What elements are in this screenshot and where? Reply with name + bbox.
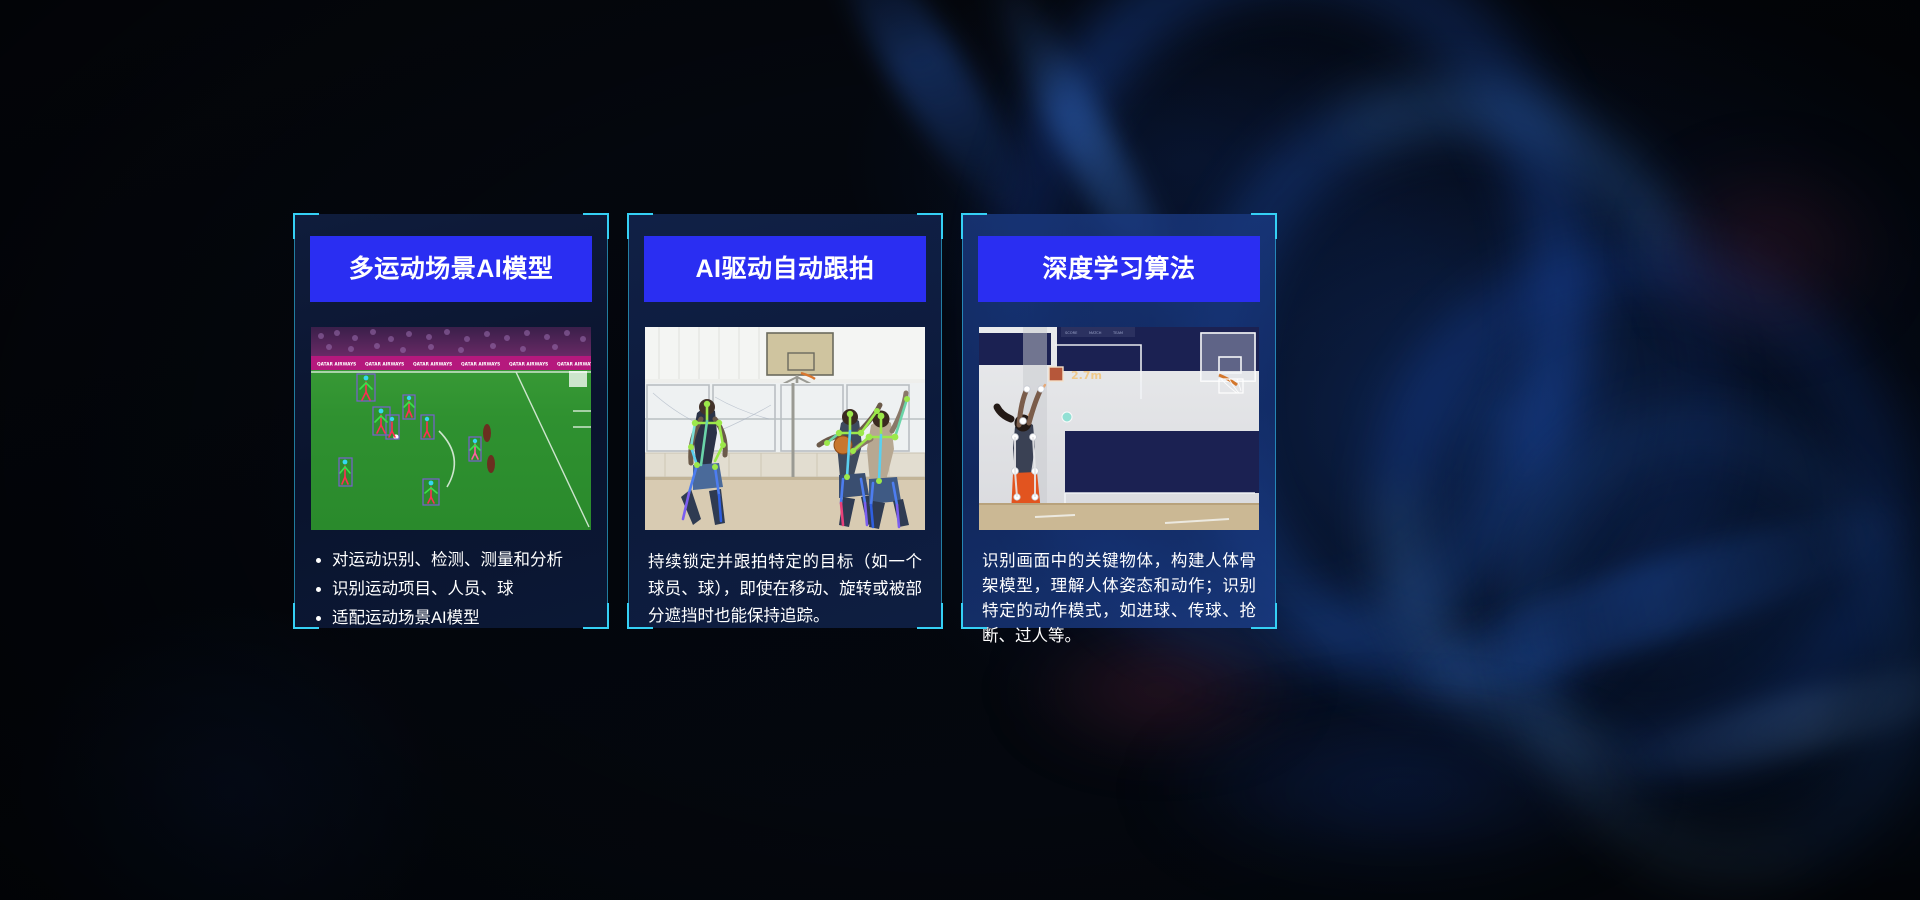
svg-text:QATAR AIRWAYS: QATAR AIRWAYS (365, 362, 404, 368)
svg-text:QATAR AIRWAYS: QATAR AIRWAYS (413, 362, 452, 368)
card-header-banner: 多运动场景AI模型 (310, 236, 592, 302)
list-item: 对运动识别、检测、测量和分析 (312, 549, 590, 572)
card-side-rail-right (607, 236, 608, 606)
soccer-field-detection-thumbnail: QATAR AIRWAYS QATAR AIRWAYS QATAR AIRWAY… (311, 327, 591, 530)
feature-card-ai-auto-tracking[interactable]: AI驱动自动跟拍 (628, 214, 942, 628)
card-title: 多运动场景AI模型 (349, 257, 554, 282)
card-description: 识别画面中的关键物体，构建人体骨架模型，理解人体姿态和动作；识别特定的动作模式，… (980, 549, 1258, 649)
svg-text:QATAR AIRWAYS: QATAR AIRWAYS (557, 362, 591, 368)
feature-card-multi-sport-ai-model[interactable]: 多运动场景AI模型 (294, 214, 608, 628)
list-item: 识别运动项目、人员、球 (312, 578, 590, 601)
svg-text:QATAR AIRWAYS: QATAR AIRWAYS (461, 362, 500, 368)
card-description: 持续锁定并跟拍特定的目标（如一个球员、球），即使在移动、旋转或被部分遮挡时也能保… (646, 549, 924, 630)
feature-card-deep-learning-algorithm[interactable]: 深度学习算法 (962, 214, 1276, 628)
card-body: 持续锁定并跟拍特定的目标（如一个球员、球），即使在移动、旋转或被部分遮挡时也能保… (646, 549, 924, 630)
card-side-rail-right (1275, 236, 1276, 606)
list-item: 适配运动场景AI模型 (312, 607, 590, 630)
basketball-shot-tracking-thumbnail: SCOREMATCHTEAM (979, 327, 1259, 530)
card-side-rail-left (628, 236, 629, 606)
card-header-banner: AI驱动自动跟拍 (644, 236, 926, 302)
card-title: 深度学习算法 (1042, 257, 1195, 282)
svg-text:SCORE: SCORE (1065, 331, 1078, 335)
svg-text:QATAR AIRWAYS: QATAR AIRWAYS (317, 362, 356, 368)
card-side-rail-right (941, 236, 942, 606)
card-side-rail-left (294, 236, 295, 606)
card-body: 识别画面中的关键物体，构建人体骨架模型，理解人体姿态和动作；识别特定的动作模式，… (980, 549, 1258, 649)
indoor-basketball-pose-thumbnail (645, 327, 925, 530)
card-side-rail-left (962, 236, 963, 606)
feature-card-row: 多运动场景AI模型 (294, 214, 1276, 628)
slide-canvas: 多运动场景AI模型 (0, 0, 1920, 900)
svg-text:2.7m: 2.7m (1071, 369, 1102, 382)
card-title: AI驱动自动跟拍 (695, 257, 874, 282)
card-header-banner: 深度学习算法 (978, 236, 1260, 302)
card-body: 对运动识别、检测、测量和分析 识别运动项目、人员、球 适配运动场景AI模型 (312, 549, 590, 636)
svg-text:QATAR AIRWAYS: QATAR AIRWAYS (509, 362, 548, 368)
feature-bullet-list: 对运动识别、检测、测量和分析 识别运动项目、人员、球 适配运动场景AI模型 (312, 549, 590, 630)
svg-text:MATCH: MATCH (1089, 331, 1102, 335)
svg-text:TEAM: TEAM (1112, 331, 1123, 335)
